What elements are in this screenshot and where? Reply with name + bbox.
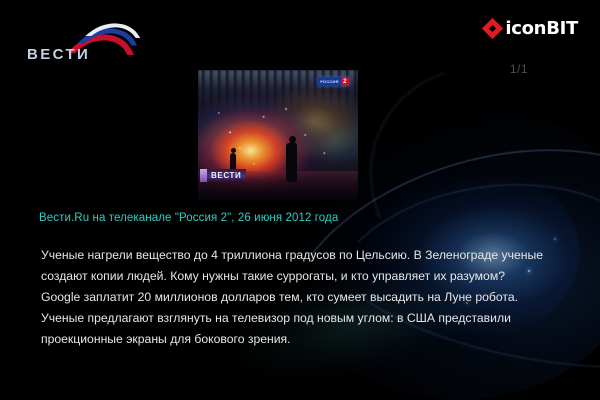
article-body-line: создают копии людей. Кому нужны такие су… bbox=[41, 266, 551, 287]
article-body-line: Ученые нагрели вещество до 4 триллиона г… bbox=[41, 245, 551, 266]
thumbnail-silhouette-right bbox=[288, 142, 297, 182]
vesti-logo-text: ВЕСТИ bbox=[27, 46, 90, 63]
glow-spark-3 bbox=[554, 238, 556, 240]
video-thumbnail[interactable]: РОССИЯ 2 ВЕСТИ bbox=[198, 70, 358, 200]
media-player-screen: ВЕСТИ iconBIT 1/1 РОССИЯ 2 ВЕСТИ Вести.R… bbox=[0, 0, 600, 400]
article-body: Ученые нагрели вещество до 4 триллиона г… bbox=[41, 245, 551, 350]
vesti-logo: ВЕСТИ bbox=[25, 26, 133, 68]
page-indicator: 1/1 bbox=[510, 62, 528, 76]
lower-third-cap bbox=[200, 169, 207, 182]
iconbit-logo-text: iconBIT bbox=[505, 18, 578, 39]
iconbit-diamond-icon bbox=[482, 18, 503, 39]
article-body-line: Ученые предлагают взглянуть на телевизор… bbox=[41, 308, 551, 329]
channel-watermark: РОССИЯ 2 bbox=[318, 77, 349, 86]
thumbnail-lower-third: ВЕСТИ bbox=[200, 169, 246, 182]
channel-watermark-name: РОССИЯ bbox=[318, 77, 340, 86]
channel-watermark-number: 2 bbox=[341, 77, 349, 86]
lower-third-label: ВЕСТИ bbox=[207, 169, 246, 182]
article-body-line: проекционные экраны для бокового зрения. bbox=[41, 329, 551, 350]
iconbit-logo: iconBIT bbox=[485, 18, 578, 39]
article-headline: Вести.Ru на телеканале "Россия 2", 26 ию… bbox=[39, 212, 338, 224]
article-body-line: Google заплатит 20 миллионов долларов те… bbox=[41, 287, 551, 308]
